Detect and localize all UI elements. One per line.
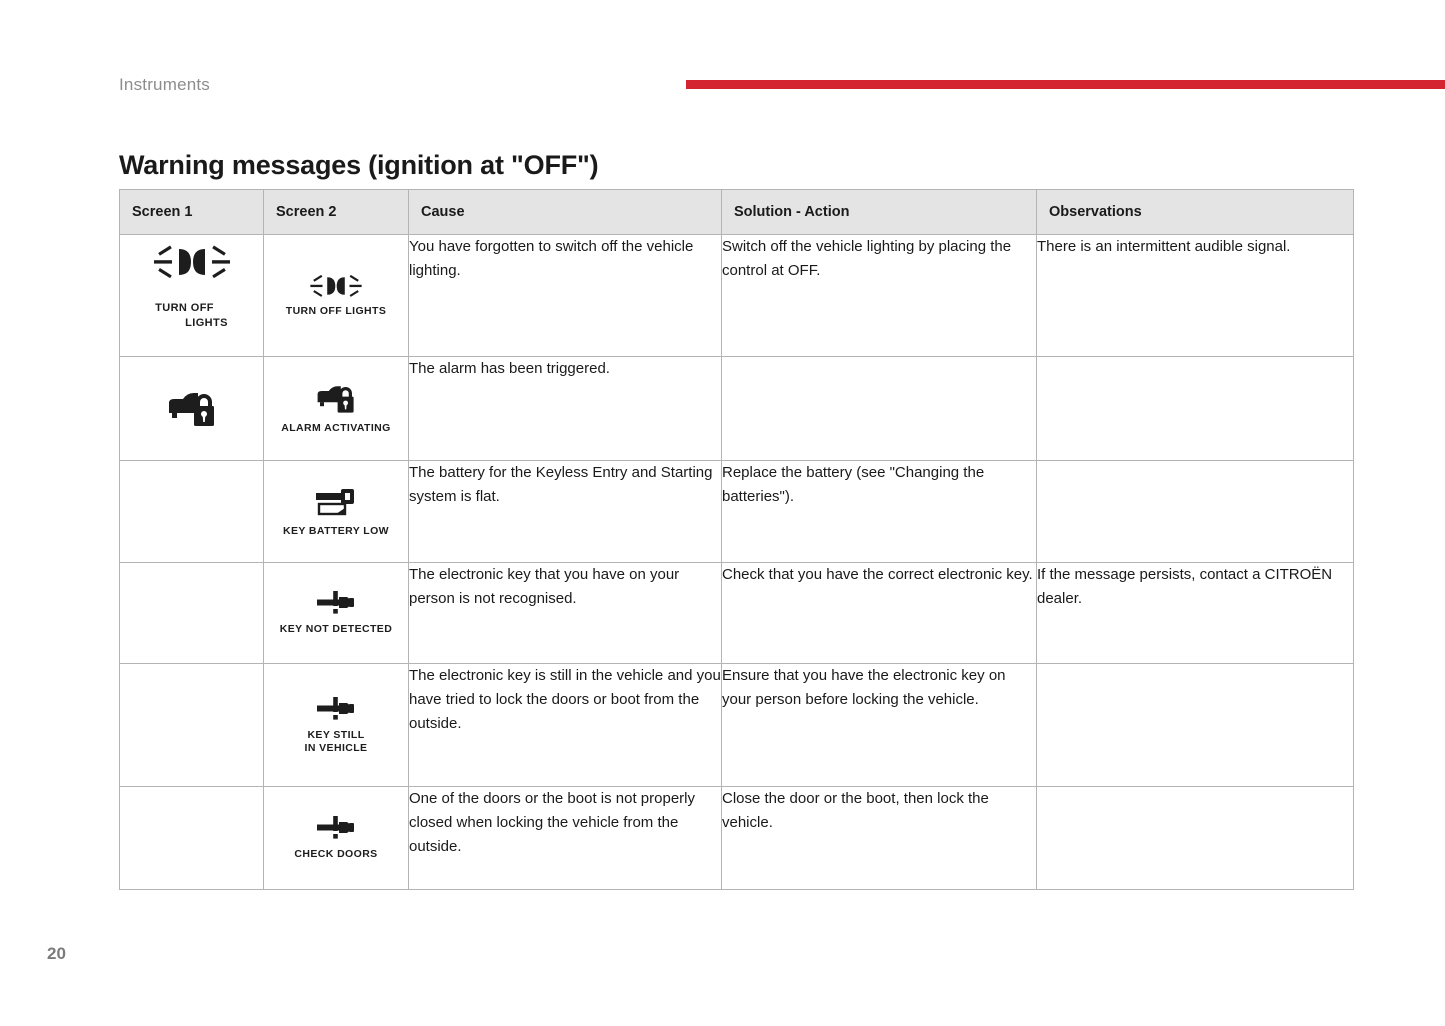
cell-solution: Close the door or the boot, then lock th… [722,787,1037,890]
cell-screen1 [120,787,264,890]
cell-screen1 [120,664,264,787]
column-header-screen2: Screen 2 [264,190,409,235]
headlights-icon [307,274,365,298]
icon-caption: KEY BATTERY LOW [283,525,389,538]
icon-caption-line1: TURN OFF [155,302,214,314]
column-header-solution: Solution - Action [722,190,1037,235]
cell-cause: The alarm has been triggered. [409,357,722,461]
cell-cause: You have forgotten to switch off the veh… [409,235,722,357]
cell-screen1: TURN OFF LIGHTS [120,235,264,357]
icon-caption: TURN OFF LIGHTS [155,286,228,346]
icon-caption: ALARM ACTIVATING [281,422,390,435]
table-row: CHECK DOORS One of the doors or the boot… [120,787,1354,890]
cell-cause: The electronic key that you have on your… [409,563,722,664]
warning-messages-table: Screen 1 Screen 2 Cause Solution - Actio… [119,189,1354,890]
cell-cause: The battery for the Keyless Entry and St… [409,461,722,563]
table-row: TURN OFF LIGHTS [120,235,1354,357]
cell-observations: If the message persists, contact a CITRO… [1037,563,1354,664]
cell-screen1 [120,357,264,461]
cell-observations: There is an intermittent audible signal. [1037,235,1354,357]
cell-solution: Check that you have the correct electron… [722,563,1037,664]
table-row: KEY NOT DETECTED The electronic key that… [120,563,1354,664]
cell-screen2: CHECK DOORS [264,787,409,890]
section-label: Instruments [119,74,210,96]
column-header-cause: Cause [409,190,722,235]
key-alert-icon [313,815,359,841]
key-alert-icon [313,590,359,616]
car-padlock-icon [167,389,217,429]
table-row: KEY BATTERY LOW The battery for the Keyl… [120,461,1354,563]
page-title: Warning messages (ignition at "OFF") [119,150,598,181]
cell-solution: Replace the battery (see "Changing the b… [722,461,1037,563]
cell-screen2: KEY BATTERY LOW [264,461,409,563]
headlights-icon [149,245,235,279]
cell-observations [1037,664,1354,787]
key-battery-icon [312,486,360,518]
table-row: ALARM ACTIVATING The alarm has been trig… [120,357,1354,461]
icon-caption: CHECK DOORS [294,848,377,861]
cell-observations [1037,787,1354,890]
cell-solution: Ensure that you have the electronic key … [722,664,1037,787]
cell-screen2: KEY STILL IN VEHICLE [264,664,409,787]
page-number: 20 [47,944,66,964]
cell-screen2: KEY NOT DETECTED [264,563,409,664]
icon-caption: KEY STILL IN VEHICLE [305,729,368,755]
icon-caption-line2: LIGHTS [155,316,228,331]
icon-caption: TURN OFF LIGHTS [286,305,387,318]
cell-cause: The electronic key is still in the vehic… [409,664,722,787]
cell-screen2: TURN OFF LIGHTS [264,235,409,357]
cell-observations [1037,357,1354,461]
icon-caption: KEY NOT DETECTED [280,623,392,636]
cell-screen2: ALARM ACTIVATING [264,357,409,461]
column-header-screen1: Screen 1 [120,190,264,235]
column-header-observations: Observations [1037,190,1354,235]
car-padlock-icon [316,383,356,415]
cell-observations [1037,461,1354,563]
cell-solution: Switch off the vehicle lighting by placi… [722,235,1037,357]
header-red-rule [686,80,1445,89]
key-alert-icon [313,696,359,722]
table-row: KEY STILL IN VEHICLE The electronic key … [120,664,1354,787]
table-header-row: Screen 1 Screen 2 Cause Solution - Actio… [120,190,1354,235]
cell-screen1 [120,461,264,563]
cell-screen1 [120,563,264,664]
cell-cause: One of the doors or the boot is not prop… [409,787,722,890]
cell-solution [722,357,1037,461]
